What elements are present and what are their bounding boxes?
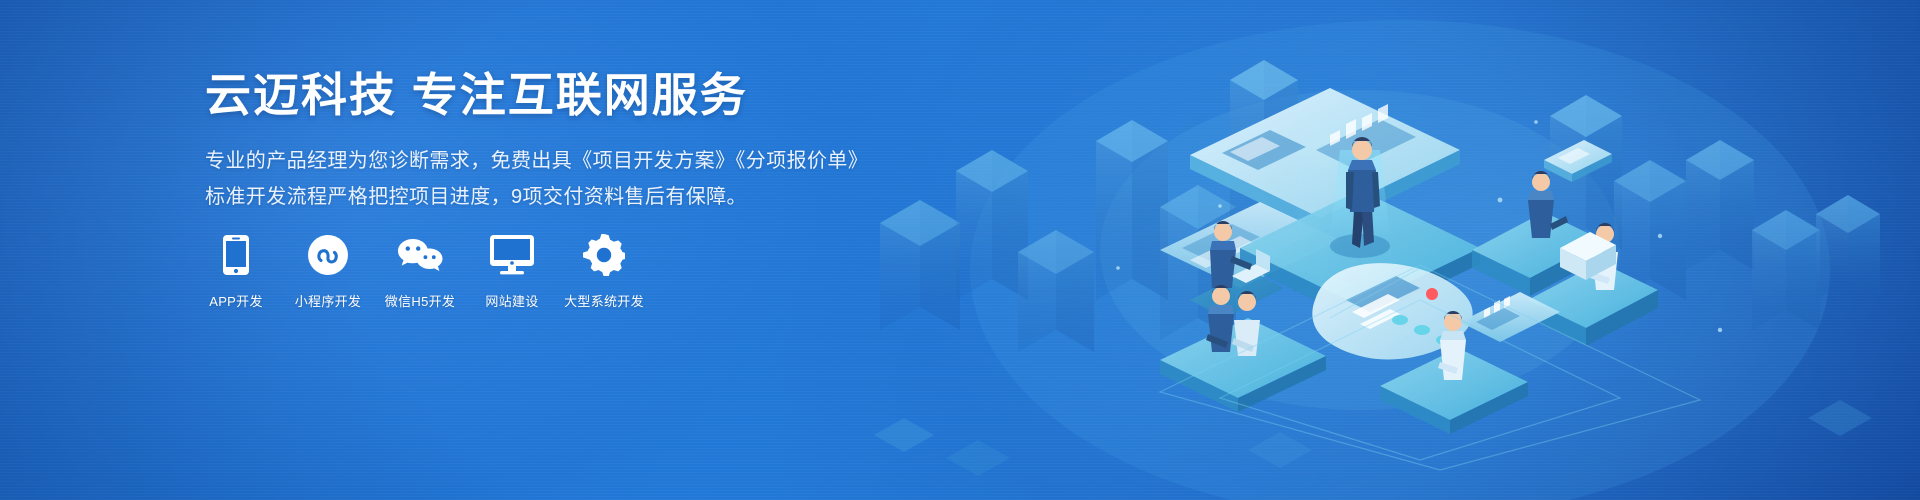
service-item-app[interactable]: APP开发	[200, 234, 272, 310]
service-label-mini-program: 小程序开发	[295, 291, 362, 310]
banner-copy: 云迈科技 专注互联网服务 专业的产品经理为您诊断需求，免费出具《项目开发方案》《…	[205, 68, 965, 215]
mobile-phone-icon	[223, 234, 249, 276]
service-label-wechat-h5: 微信H5开发	[385, 291, 455, 310]
service-list: APP开发 小程序开发 微信	[200, 234, 640, 310]
service-label-large-system: 大型系统开发	[564, 291, 644, 310]
service-item-mini-program[interactable]: 小程序开发	[292, 234, 364, 310]
promo-banner: 云迈科技 专注互联网服务 专业的产品经理为您诊断需求，免费出具《项目开发方案》《…	[0, 0, 1920, 500]
service-label-website: 网站建设	[485, 291, 538, 310]
isometric-tech-illustration	[860, 0, 1920, 500]
mini-program-icon	[308, 234, 348, 276]
page-title: 云迈科技 专注互联网服务	[205, 68, 965, 122]
monitor-icon	[490, 234, 534, 276]
service-item-website[interactable]: 网站建设	[476, 234, 548, 310]
wechat-icon	[396, 234, 444, 276]
service-item-large-system[interactable]: 大型系统开发	[568, 234, 640, 310]
subtitle-line-1: 专业的产品经理为您诊断需求，免费出具《项目开发方案》《分项报价单》	[205, 144, 965, 180]
service-item-wechat[interactable]: 微信H5开发	[384, 234, 456, 310]
gear-icon	[583, 234, 625, 276]
subtitle-line-2: 标准开发流程严格把控项目进度，9项交付资料售后有保障。	[205, 180, 965, 216]
banner-subtitle: 专业的产品经理为您诊断需求，免费出具《项目开发方案》《分项报价单》 标准开发流程…	[205, 144, 965, 215]
service-label-app: APP开发	[209, 291, 263, 310]
